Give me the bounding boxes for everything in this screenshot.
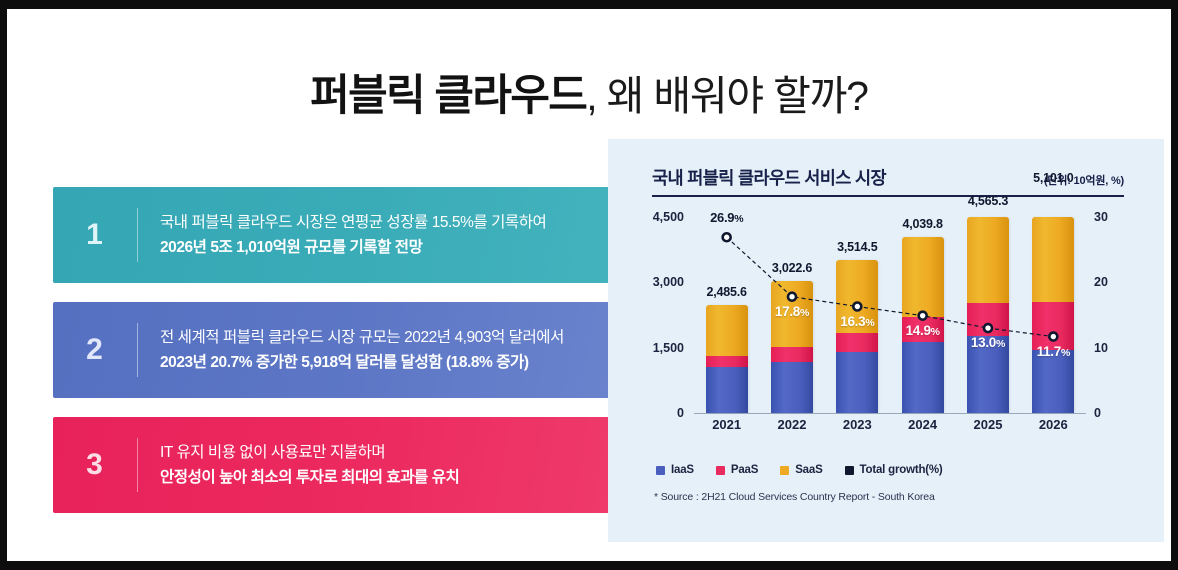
legend-swatch-icon (716, 466, 725, 475)
y-tick-right: 30 (1084, 210, 1124, 224)
card-number-1: 1 (53, 218, 137, 252)
chart-title-rule (652, 195, 1124, 197)
bar-segment-paas (771, 347, 813, 361)
x-axis-label: 2023 (834, 417, 880, 432)
page-title: 퍼블릭 클라우드, 왜 배워야 할까? (7, 61, 1171, 123)
bar-segment-saas (902, 237, 944, 317)
card-text-2: 전 세계적 퍼블릭 클라우드 시장 규모는 2022년 4,903억 달러에서 … (160, 325, 564, 375)
bar-column[interactable]: 2,485.626.9% (704, 217, 750, 413)
legend-swatch-icon (845, 466, 854, 475)
bar-total-label: 4,565.3 (968, 194, 1008, 208)
chart-plot-area: 01,5003,0004,500 0102030 2,485.626.9%3,0… (652, 217, 1124, 437)
chart-legend: IaaSPaaSSaaSTotal growth(%) (656, 464, 943, 476)
bar-segment-paas (967, 303, 1009, 336)
bar-column[interactable]: 5,101.011.7% (1030, 217, 1076, 413)
legend-label: Total growth(%) (860, 464, 943, 476)
slide-frame: 퍼블릭 클라우드, 왜 배워야 할까? 1 국내 퍼블릭 클라우드 시장은 연평… (7, 9, 1171, 561)
y-tick-right: 20 (1084, 275, 1124, 289)
legend-item[interactable]: IaaS (656, 464, 694, 476)
x-axis-label: 2021 (704, 417, 750, 432)
growth-percent-label: 13.0% (971, 335, 1005, 350)
x-axis-label: 2024 (900, 417, 946, 432)
bar-segment-iaas (706, 367, 748, 413)
bar-column[interactable]: 4,565.313.0% (965, 217, 1011, 413)
card-number-2: 2 (53, 333, 137, 367)
growth-percent-label: 14.9% (906, 323, 940, 338)
bar-total-label: 2,485.6 (707, 285, 747, 299)
x-axis-label: 2026 (1030, 417, 1076, 432)
card-line-3-1: IT 유지 비용 없이 사용료만 지불하며 (160, 440, 459, 465)
y-axis-right: 0102030 (1084, 217, 1124, 413)
stacked-bar[interactable] (1032, 217, 1074, 413)
y-tick-left: 0 (652, 406, 692, 420)
card-line-1-1: 국내 퍼블릭 클라우드 시장은 연평균 성장률 15.5%를 기록하여 (160, 210, 546, 235)
card-divider-1 (137, 208, 138, 262)
card-line-1-2: 2026년 5조 1,010억원 규모를 기록할 전망 (160, 235, 546, 260)
bar-total-label: 5,101.0 (1033, 171, 1073, 185)
legend-swatch-icon (780, 466, 789, 475)
x-axis-label: 2022 (769, 417, 815, 432)
chart-title: 국내 퍼블릭 클라우드 서비스 시장 (652, 165, 886, 190)
legend-item[interactable]: Total growth(%) (845, 464, 943, 476)
legend-item[interactable]: SaaS (780, 464, 822, 476)
bar-segment-iaas (1032, 350, 1074, 413)
highlight-card-3[interactable]: 3 IT 유지 비용 없이 사용료만 지불하며 안정성이 높아 최소의 투자로 … (53, 417, 615, 513)
bar-column[interactable]: 4,039.814.9% (900, 217, 946, 413)
highlight-card-1[interactable]: 1 국내 퍼블릭 클라우드 시장은 연평균 성장률 15.5%를 기록하여 20… (53, 187, 615, 283)
bar-total-label: 4,039.8 (902, 217, 942, 231)
page-title-strong: 퍼블릭 클라우드 (310, 72, 586, 120)
card-divider-2 (137, 323, 138, 377)
bar-segment-saas (1032, 217, 1074, 302)
y-axis-left: 01,5003,0004,500 (652, 217, 692, 413)
legend-item[interactable]: PaaS (716, 464, 758, 476)
legend-label: PaaS (731, 464, 758, 476)
card-divider-3 (137, 438, 138, 492)
bar-segment-iaas (902, 342, 944, 413)
bar-group: 2,485.626.9%3,022.617.8%3,514.516.3%4,03… (694, 217, 1086, 413)
stacked-bar[interactable] (836, 260, 878, 413)
y-tick-right: 0 (1084, 406, 1124, 420)
bar-segment-paas (836, 333, 878, 353)
growth-percent-label: 26.9% (710, 210, 743, 225)
stacked-bar[interactable] (771, 281, 813, 413)
bar-segment-iaas (771, 362, 813, 413)
card-line-3-2: 안정성이 높아 최소의 투자로 최대의 효과를 유치 (160, 465, 459, 490)
card-number-3: 3 (53, 448, 137, 482)
highlight-card-list: 1 국내 퍼블릭 클라우드 시장은 연평균 성장률 15.5%를 기록하여 20… (53, 187, 615, 532)
stacked-bar[interactable] (967, 217, 1009, 413)
y-tick-left: 1,500 (652, 341, 692, 355)
bar-column[interactable]: 3,022.617.8% (769, 217, 815, 413)
page-title-rest: , 왜 배워야 할까? (586, 73, 868, 119)
x-axis-labels: 202120222023202420252026 (694, 417, 1086, 432)
growth-percent-label: 16.3% (840, 314, 874, 329)
chart-source: * Source : 2H21 Cloud Services Country R… (654, 491, 935, 503)
bar-segment-saas (967, 217, 1009, 303)
legend-label: IaaS (671, 464, 694, 476)
bar-total-label: 3,022.6 (772, 261, 812, 275)
highlight-card-2[interactable]: 2 전 세계적 퍼블릭 클라우드 시장 규모는 2022년 4,903억 달러에… (53, 302, 615, 398)
y-tick-right: 10 (1084, 341, 1124, 355)
bar-segment-paas (706, 356, 748, 367)
bar-segment-saas (706, 305, 748, 356)
bar-column[interactable]: 3,514.516.3% (834, 217, 880, 413)
card-text-3: IT 유지 비용 없이 사용료만 지불하며 안정성이 높아 최소의 투자로 최대… (160, 440, 459, 490)
card-text-1: 국내 퍼블릭 클라우드 시장은 연평균 성장률 15.5%를 기록하여 2026… (160, 210, 546, 260)
card-line-2-1: 전 세계적 퍼블릭 클라우드 시장 규모는 2022년 4,903억 달러에서 (160, 325, 564, 350)
chart-panel: 국내 퍼블릭 클라우드 서비스 시장 (단위: 10억원, %) 01,5003… (608, 139, 1164, 542)
card-line-2-2: 2023년 20.7% 증가한 5,918억 달러를 달성함 (18.8% 증가… (160, 350, 564, 375)
legend-swatch-icon (656, 466, 665, 475)
legend-label: SaaS (795, 464, 822, 476)
bar-segment-iaas (836, 352, 878, 413)
y-tick-left: 3,000 (652, 275, 692, 289)
growth-percent-label: 17.8% (775, 304, 809, 319)
bar-total-label: 3,514.5 (837, 240, 877, 254)
stacked-bar[interactable] (706, 305, 748, 413)
x-axis-line (694, 413, 1086, 414)
x-axis-label: 2025 (965, 417, 1011, 432)
growth-percent-label: 11.7% (1037, 344, 1070, 359)
y-tick-left: 4,500 (652, 210, 692, 224)
